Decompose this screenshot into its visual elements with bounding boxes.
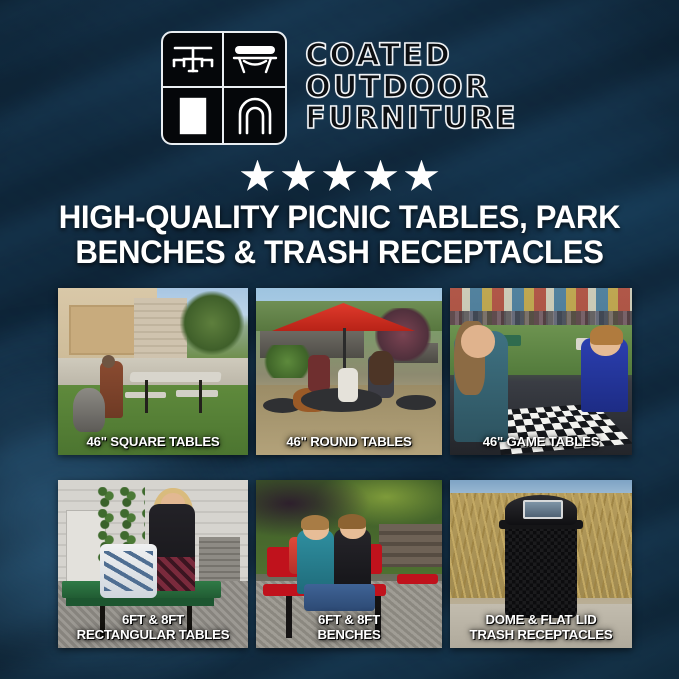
round-table-photo [256, 288, 442, 455]
page-title: HIGH-QUALITY PICNIC TABLES, PARK BENCHES… [28, 200, 651, 270]
headline-line-1: HIGH-QUALITY PICNIC TABLES, PARK [40, 200, 638, 235]
trash-receptacle-icon [163, 88, 224, 143]
logo-line-2: OUTDOOR [305, 73, 517, 104]
product-card-game-tables[interactable]: 46" GAME TABLES [450, 288, 632, 455]
product-card-benches[interactable]: 6FT & 8FT BENCHES [256, 480, 442, 648]
product-caption: 46" ROUND TABLES [259, 435, 439, 450]
product-caption: 46" SQUARE TABLES [61, 435, 245, 450]
park-bench-icon [224, 33, 285, 88]
bike-rack-icon [224, 88, 285, 143]
game-table-photo [450, 288, 632, 455]
product-caption: 6FT & 8FT RECTANGULAR TABLES [61, 613, 245, 643]
logo-icon-grid [161, 31, 287, 145]
star-icon [405, 160, 439, 193]
brand-logo: COATED OUTDOOR FURNITURE [0, 26, 679, 150]
product-caption: 6FT & 8FT BENCHES [259, 613, 439, 643]
star-icon [282, 160, 316, 193]
logo-line-1: COATED [305, 41, 517, 72]
star-rating [0, 158, 679, 194]
product-caption: DOME & FLAT LID TRASH RECEPTACLES [453, 613, 629, 643]
square-table-photo [58, 288, 248, 455]
product-caption: 46" GAME TABLES [453, 435, 629, 450]
logo-line-3: FURNITURE [305, 104, 517, 135]
star-icon [323, 160, 357, 193]
product-card-trash-receptacles[interactable]: DOME & FLAT LID TRASH RECEPTACLES [450, 480, 632, 648]
product-grid: 46" SQUARE TABLES 46" ROUND TABLES [58, 288, 622, 648]
logo-wordmark: COATED OUTDOOR FURNITURE [305, 41, 517, 136]
star-icon [364, 160, 398, 193]
product-card-square-tables[interactable]: 46" SQUARE TABLES [58, 288, 248, 455]
picnic-table-icon [163, 33, 224, 88]
star-icon [241, 160, 275, 193]
product-card-round-tables[interactable]: 46" ROUND TABLES [256, 288, 442, 455]
headline-line-2: BENCHES & TRASH RECEPTACLES [40, 235, 638, 270]
product-card-rectangular-tables[interactable]: 6FT & 8FT RECTANGULAR TABLES [58, 480, 248, 648]
promotional-poster: COATED OUTDOOR FURNITURE HIGH-QUALITY PI… [0, 0, 679, 679]
